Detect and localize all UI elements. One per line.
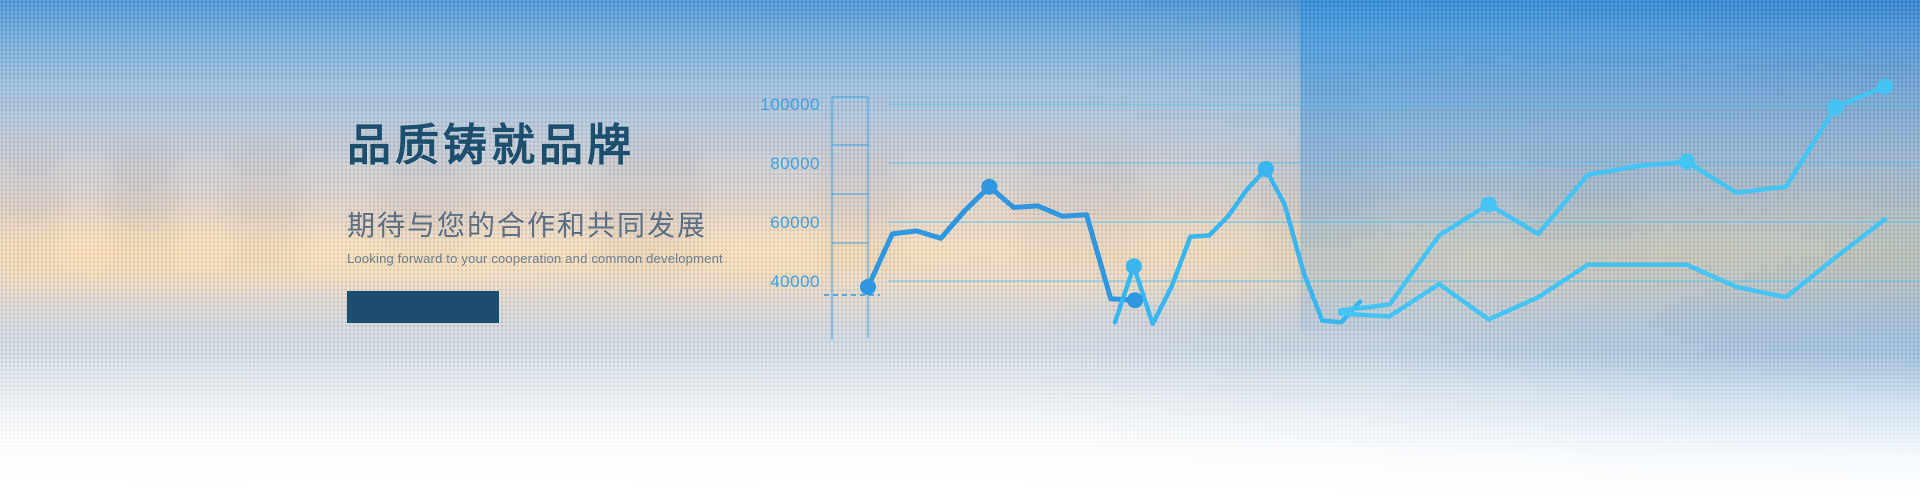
chart-svg: 400006000080000100000 <box>760 0 1920 500</box>
series-marker <box>1127 292 1143 308</box>
series-marker <box>1827 99 1843 115</box>
series-line <box>868 187 1135 301</box>
y-axis-tick-label: 40000 <box>770 272 820 291</box>
series-marker <box>1877 79 1893 95</box>
series-marker <box>981 179 997 195</box>
series-marker <box>1126 258 1142 274</box>
banner-subtitle: 期待与您的合作和共同发展 <box>347 212 777 240</box>
cta-button[interactable] <box>347 291 499 323</box>
chart-series-lines <box>868 87 1885 324</box>
y-axis-tick-label: 100000 <box>760 95 820 114</box>
y-axis-tick-label: 80000 <box>770 154 820 173</box>
series-line <box>1115 169 1360 324</box>
series-marker <box>1481 196 1497 212</box>
series-marker <box>860 279 876 295</box>
series-marker <box>1679 154 1695 170</box>
banner-subtitle-english: Looking forward to your cooperation and … <box>347 252 777 265</box>
chart-axis-frame <box>832 97 868 340</box>
line-chart: 400006000080000100000 <box>760 0 1920 500</box>
banner-copy: 品质铸就品牌 期待与您的合作和共同发展 Looking forward to y… <box>347 124 777 323</box>
y-axis-tick-label: 60000 <box>770 213 820 232</box>
series-marker <box>1258 161 1274 177</box>
chart-axis-ticks <box>832 145 868 243</box>
page-title: 品质铸就品牌 <box>347 124 777 168</box>
chart-gridlines <box>888 104 1920 281</box>
series-line <box>1340 219 1885 319</box>
hero-banner: 品质铸就品牌 期待与您的合作和共同发展 Looking forward to y… <box>0 0 1920 500</box>
chart-y-axis-labels: 400006000080000100000 <box>760 95 820 291</box>
series-line <box>1340 87 1885 311</box>
